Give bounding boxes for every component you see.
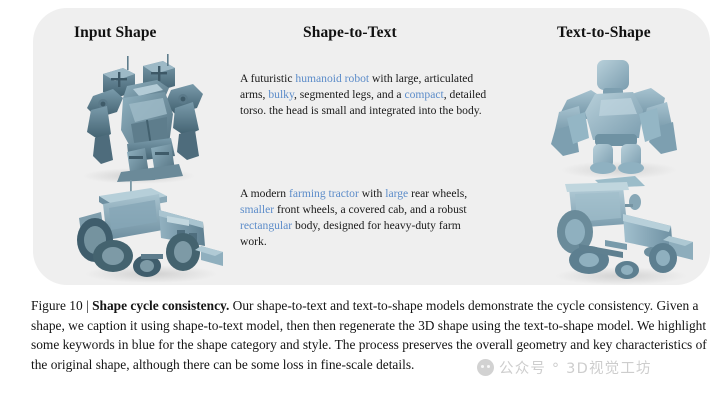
blocky-robot-render-icon bbox=[533, 52, 710, 187]
output-shape-robot bbox=[533, 52, 710, 187]
keyword-highlight: farming tractor bbox=[289, 187, 359, 200]
keyword-highlight: compact bbox=[404, 88, 443, 101]
input-shape-tractor bbox=[55, 178, 255, 285]
column-header-input-shape: Input Shape bbox=[74, 24, 157, 42]
keyword-highlight: humanoid robot bbox=[295, 72, 369, 85]
figure-caption-label: Figure 10 | bbox=[31, 298, 92, 313]
mech-robot-render-icon bbox=[51, 52, 251, 187]
column-header-row: Input Shape Shape-to-Text Text-to-Shape bbox=[33, 24, 710, 50]
figure-panel: Input Shape Shape-to-Text Text-to-Shape bbox=[33, 8, 710, 285]
keyword-highlight: rectangular bbox=[240, 219, 292, 232]
caption-text-run: rear wheels, bbox=[408, 187, 467, 200]
column-header-text-to-shape: Text-to-Shape bbox=[557, 24, 651, 42]
shape-to-text-caption-tractor: A modern farming tractor with large rear… bbox=[240, 186, 490, 250]
caption-text-run: front wheels, a covered cab, and a robus… bbox=[274, 203, 467, 216]
caption-text-run: A modern bbox=[240, 187, 289, 200]
caption-text-run: with bbox=[359, 187, 385, 200]
shape-to-text-caption-robot: A futuristic humanoid robot with large, … bbox=[240, 71, 490, 119]
output-shape-tractor bbox=[531, 180, 710, 285]
keyword-highlight: bulky bbox=[268, 88, 294, 101]
figure-caption: Figure 10 | Shape cycle consistency. Our… bbox=[31, 296, 707, 374]
input-shape-robot bbox=[51, 52, 251, 187]
simplified-tractor-render-icon bbox=[531, 180, 710, 285]
keyword-highlight: large bbox=[385, 187, 408, 200]
keyword-highlight: smaller bbox=[240, 203, 274, 216]
detailed-tractor-render-icon bbox=[55, 178, 255, 285]
caption-text-run: A futuristic bbox=[240, 72, 295, 85]
column-header-shape-to-text: Shape-to-Text bbox=[303, 24, 397, 42]
figure-caption-title: Shape cycle consistency. bbox=[92, 298, 229, 313]
caption-text-run: , segmented legs, and a bbox=[294, 88, 404, 101]
